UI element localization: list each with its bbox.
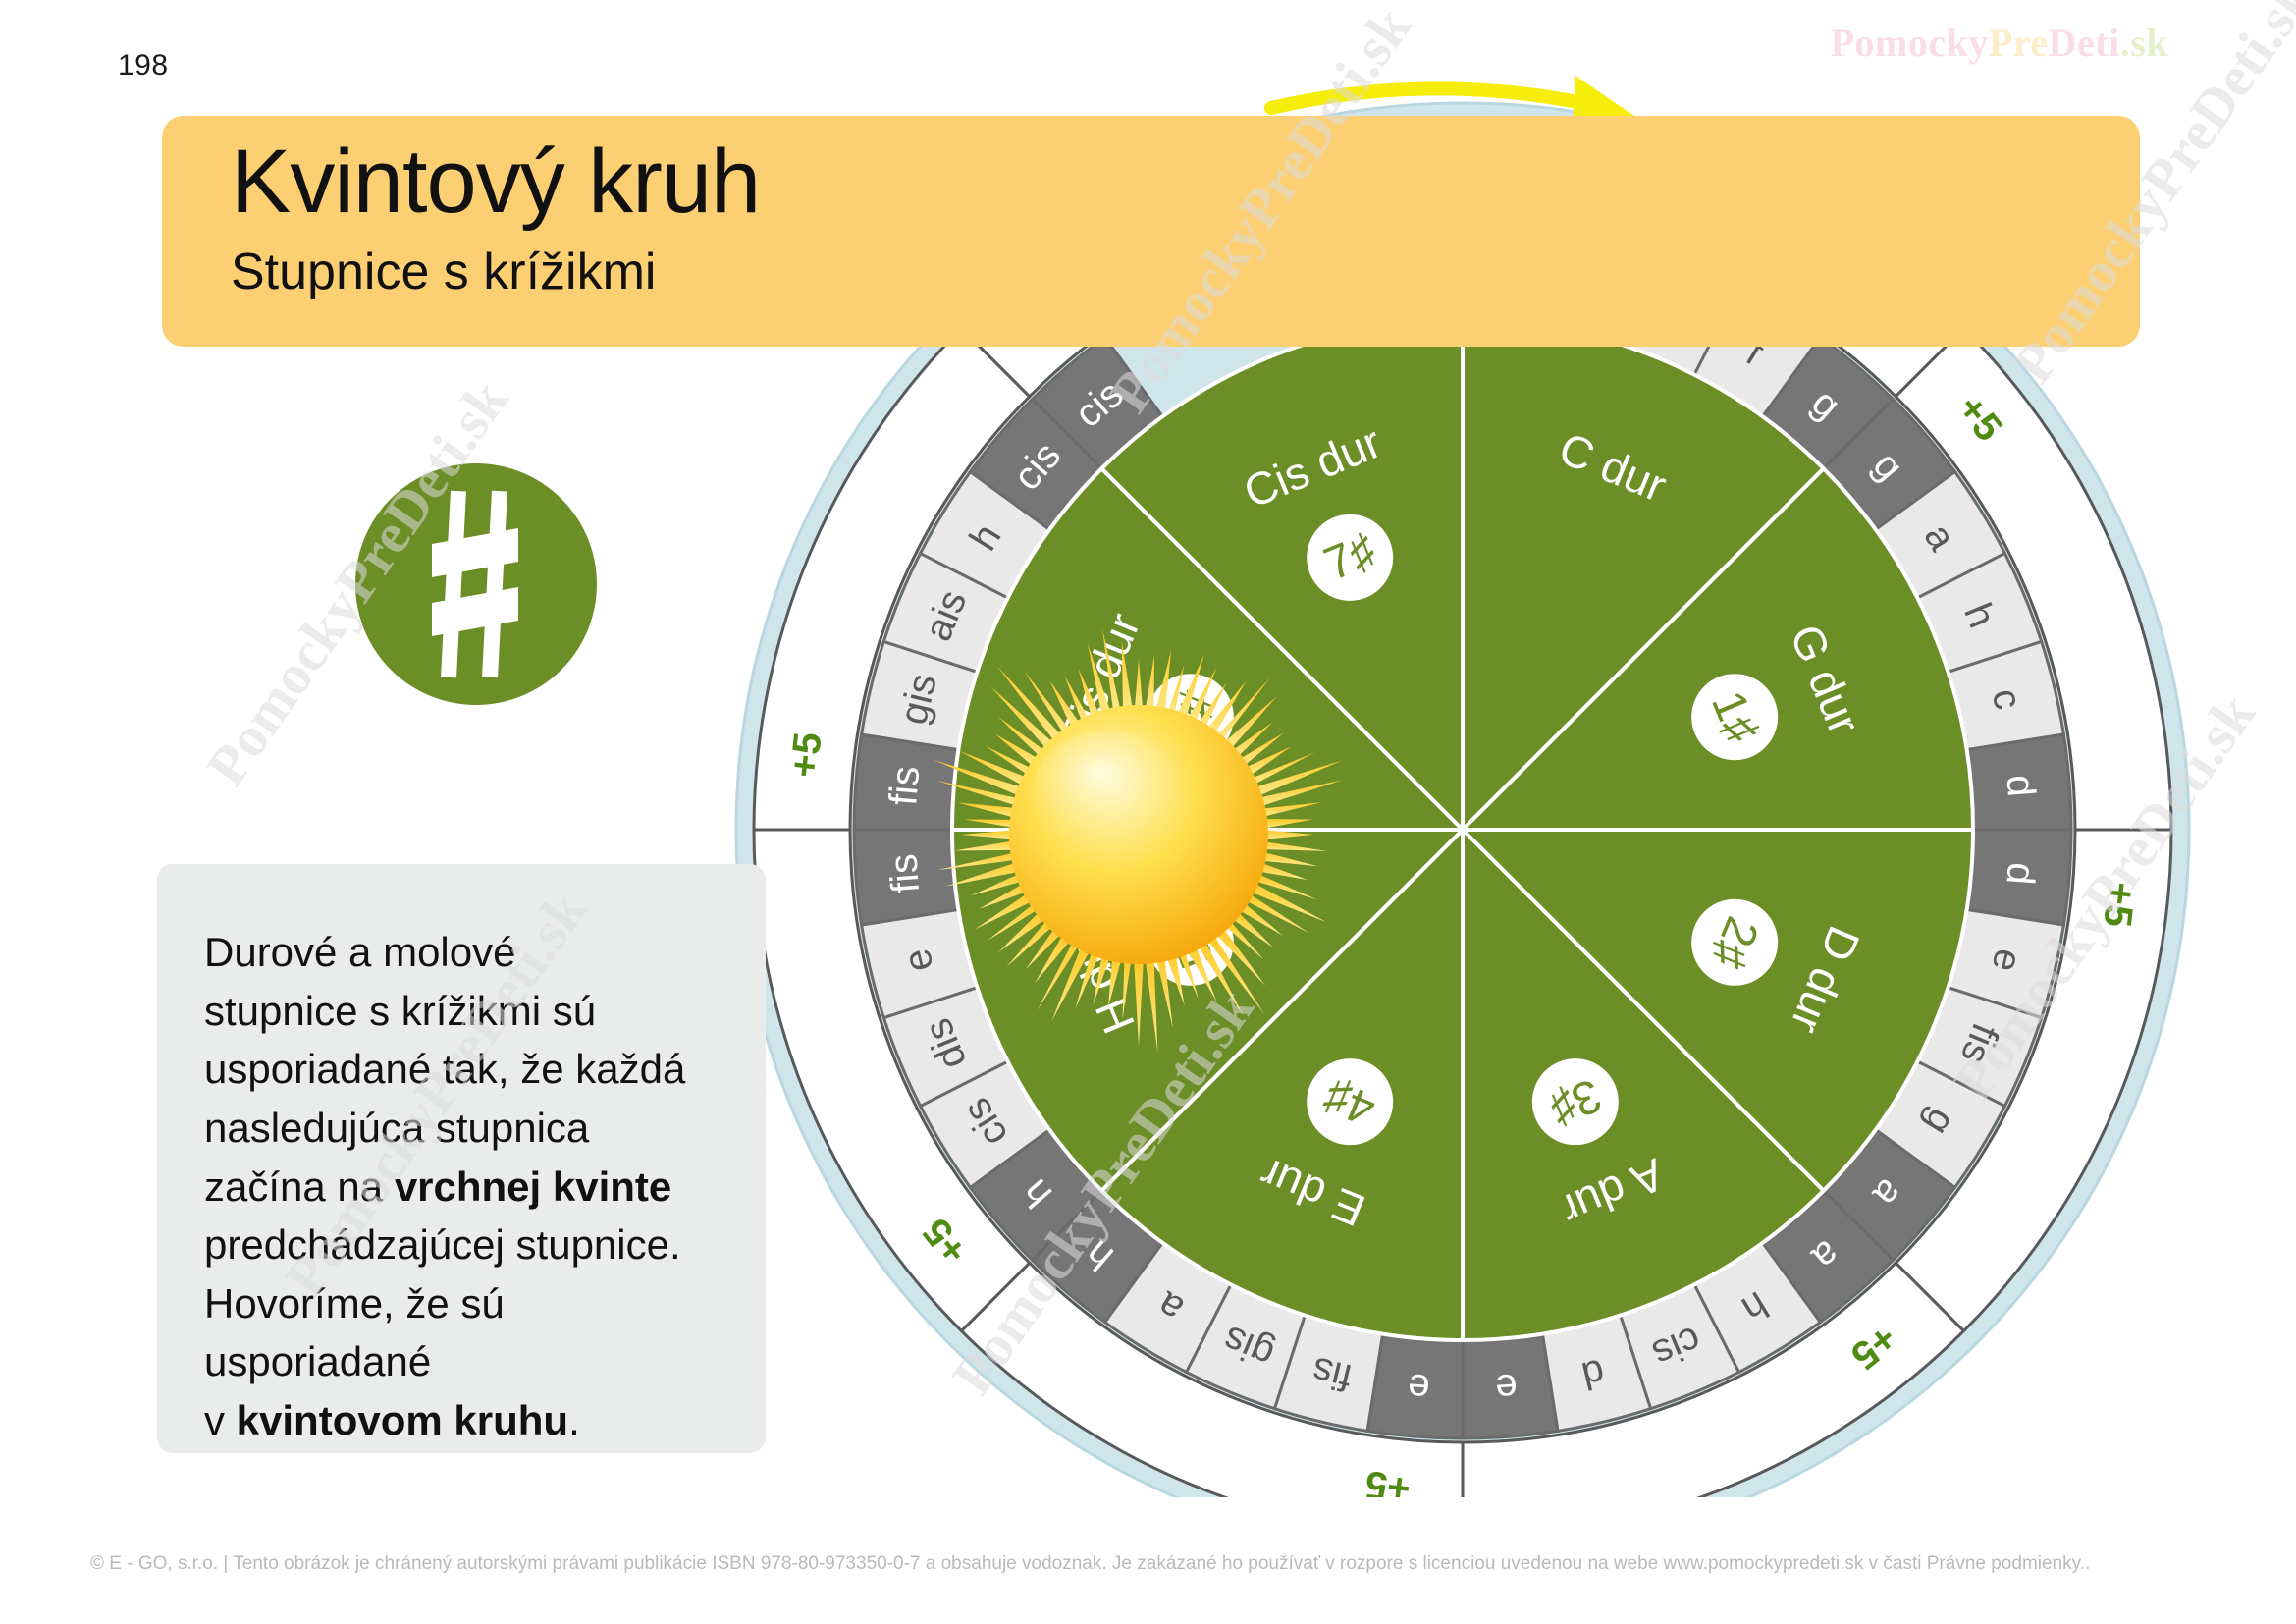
info-paragraph: Durové a molové stupnice s krížikmi sú u… bbox=[204, 923, 734, 1450]
sun-ray bbox=[955, 840, 1016, 850]
page-subtitle: Stupnice s krížikmi bbox=[231, 244, 760, 300]
plus-five-label: +5 bbox=[782, 731, 830, 780]
plus-five-label: +5 bbox=[1363, 1462, 1413, 1497]
sun-ray bbox=[1123, 957, 1132, 1019]
page-number: 198 bbox=[118, 49, 169, 82]
note-label: e bbox=[1494, 1365, 1520, 1410]
info-line-8: v bbox=[204, 1397, 237, 1443]
sun-ray bbox=[1108, 955, 1122, 1006]
info-line-3: usporiadané tak, že každá bbox=[204, 1046, 685, 1092]
sun-ray bbox=[1261, 819, 1312, 829]
sun-highlight bbox=[1033, 731, 1186, 852]
sun-ray bbox=[1134, 958, 1144, 1047]
sun-ray bbox=[1259, 802, 1321, 817]
sun-ray bbox=[1262, 830, 1313, 839]
sun-ray bbox=[1146, 957, 1158, 1053]
sun-ray bbox=[961, 830, 1015, 839]
info-line-6: predchádzajúcej stupnice. bbox=[204, 1221, 681, 1268]
sun-ray bbox=[1122, 641, 1133, 712]
header-card: Kvintový kruh Stupnice s krížikmi bbox=[162, 116, 2140, 347]
sun-ray bbox=[1261, 841, 1327, 851]
sharp-icon bbox=[355, 463, 597, 705]
info-emphasis-2: kvintovom kruhu bbox=[237, 1397, 568, 1443]
sharp-symbol-badge bbox=[355, 463, 597, 705]
sun-ray bbox=[1259, 851, 1318, 866]
sun-ray bbox=[1135, 659, 1143, 711]
info-line-8-end: . bbox=[568, 1397, 580, 1443]
sun-ray bbox=[965, 819, 1016, 828]
info-line-2: stupnice s krížikmi sú bbox=[204, 988, 596, 1034]
footer-copyright: © E - GO, s.r.o. | Tento obrázok je chrá… bbox=[90, 1553, 2090, 1575]
info-card: Durové a molové stupnice s krížikmi sú u… bbox=[157, 864, 766, 1453]
note-label: d bbox=[1998, 773, 2043, 798]
info-emphasis-1: vrchnej kvinte bbox=[395, 1164, 671, 1210]
sun-ray bbox=[1155, 650, 1171, 714]
info-line-4: nasledujúca stupnica bbox=[204, 1105, 589, 1151]
page-title: Kvintový kruh bbox=[231, 134, 760, 231]
note-label: e bbox=[1406, 1365, 1431, 1410]
info-line-1: Durové a molové bbox=[204, 929, 515, 975]
info-line-7: Hovoríme, že sú usporiadané bbox=[204, 1280, 505, 1385]
plus-five-label: +5 bbox=[2095, 880, 2143, 929]
sun-ray bbox=[1145, 655, 1154, 712]
note-label: d bbox=[1998, 861, 2043, 887]
sun-illustration bbox=[864, 589, 1414, 1080]
sun-ray bbox=[958, 803, 1018, 819]
header-text-block: Kvintový kruh Stupnice s krížikmi bbox=[231, 134, 760, 301]
info-line-5: začína na bbox=[204, 1164, 395, 1210]
